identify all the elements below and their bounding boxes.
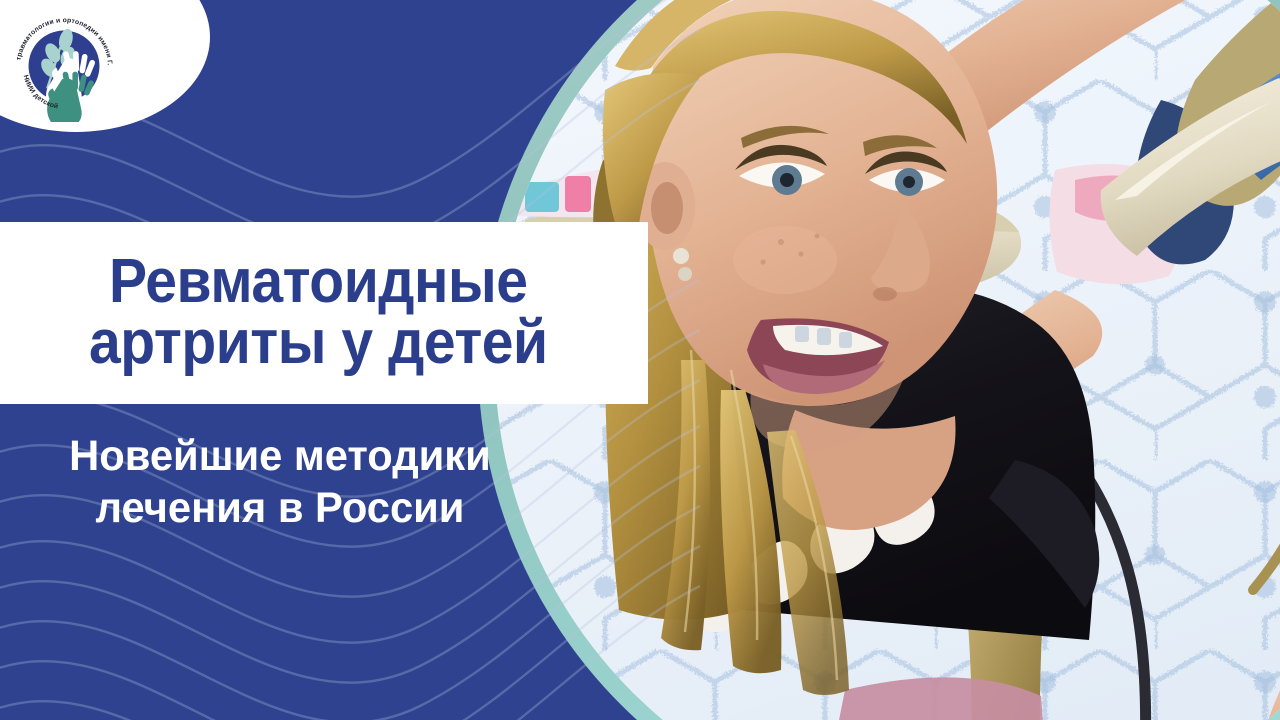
title-card: Ревматоидные артриты у детей [0,222,648,404]
video-thumbnail: травматологии и ортопедии имени Г.И. Тур… [0,0,1280,720]
subtitle-block: Новейшие методики лечения в России [0,430,560,535]
page-subtitle: Новейшие методики лечения в России [8,430,551,535]
page-title: Ревматоидные артриты у детей [89,252,548,374]
hands-and-leaves-logo-icon[interactable]: травматологии и ортопедии имени Г.И. Тур… [8,10,120,122]
